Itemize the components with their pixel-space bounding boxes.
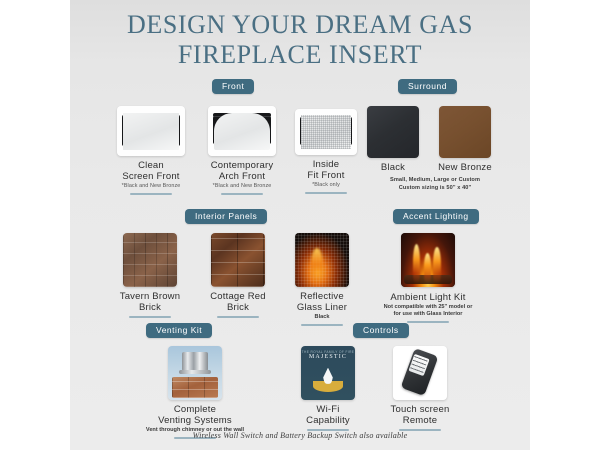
section-label-front[interactable]: Front [212, 79, 254, 94]
divider-rule [217, 316, 259, 318]
wifi-tile-brand: MAJESTIC [301, 354, 355, 360]
label-line-1: Ambient Light Kit [390, 292, 465, 303]
product-note: Black [282, 314, 362, 321]
product-label: Touch screen Remote [375, 404, 465, 426]
touch-screen-remote-image [393, 346, 447, 400]
label-line-1: Cottage Red [210, 291, 266, 302]
product-wifi-capability[interactable]: THE ROYAL FAMILY OF FIRE MAJESTIC Wi-Fi … [294, 346, 362, 431]
divider-rule [407, 321, 449, 323]
label-line-1: Wi-Fi [316, 404, 339, 415]
label-line-1: Inside [313, 159, 340, 170]
clean-screen-front-image [117, 106, 185, 156]
accent-note-line-2: for use with Glass Interior [393, 311, 462, 317]
product-note: *Black and New Bronze [199, 183, 285, 190]
product-label: Tavern Brown Brick [110, 291, 190, 313]
product-label: Cottage Red Brick [198, 291, 278, 313]
label-line-1: New Bronze [438, 162, 492, 173]
section-label-venting-kit[interactable]: Venting Kit [146, 323, 212, 338]
product-note: *Black and New Bronze [112, 183, 190, 190]
ambient-light-kit-caption: Ambient Light Kit Not compatible with 25… [370, 288, 486, 323]
ambient-light-kit-image [401, 233, 455, 287]
section-label-surround[interactable]: Surround [398, 79, 457, 94]
section-label-interior-panels[interactable]: Interior Panels [185, 209, 267, 224]
tavern-brown-brick-swatch [123, 233, 177, 287]
label-line-2: Brick [110, 302, 190, 313]
contemporary-arch-front-image [208, 106, 276, 156]
product-label: Ambient Light Kit [370, 292, 486, 303]
product-surround-black[interactable]: Black [364, 106, 422, 173]
cottage-red-brick-swatch [211, 233, 265, 287]
label-line-2: Venting Systems [135, 415, 255, 426]
surround-note-line-2: Custom sizing is 50" x 40" [399, 185, 472, 191]
product-surround-new-bronze[interactable]: New Bronze [430, 106, 500, 173]
product-label: Clean Screen Front [112, 160, 190, 182]
label-line-2: Fit Front [290, 170, 362, 181]
surround-note-line-1: Small, Medium, Large or Custom [390, 177, 480, 183]
product-cottage-red-brick[interactable]: Cottage Red Brick [198, 233, 278, 318]
label-line-1: Clean [138, 160, 164, 171]
footer-note: Wireless Wall Switch and Battery Backup … [70, 431, 530, 440]
label-line-2: Glass Liner [282, 302, 362, 313]
section-label-accent-lighting[interactable]: Accent Lighting [393, 209, 479, 224]
title-line-1: DESIGN YOUR DREAM GAS [127, 10, 473, 39]
product-clean-screen-front[interactable]: Clean Screen Front *Black and New Bronze [112, 106, 190, 195]
product-label: Black [364, 162, 422, 173]
accent-lighting-note: Not compatible with 25" model or for use… [370, 304, 486, 318]
title-line-2: FIREPLACE INSERT [70, 40, 530, 70]
product-complete-venting-systems[interactable]: Complete Venting Systems Vent through ch… [135, 346, 255, 439]
product-note: *Black only [290, 182, 362, 189]
product-contemporary-arch-front[interactable]: Contemporary Arch Front *Black and New B… [199, 106, 285, 195]
venting-system-image [168, 346, 222, 400]
divider-rule [129, 316, 171, 318]
label-line-1: Contemporary [211, 160, 274, 171]
surround-note: Small, Medium, Large or Custom Custom si… [360, 177, 510, 192]
product-reflective-glass-liner[interactable]: Reflective Glass Liner Black [282, 233, 362, 326]
label-line-1: Reflective [300, 291, 344, 302]
divider-rule [221, 193, 263, 195]
divider-rule [301, 324, 343, 326]
label-line-2: Remote [375, 415, 465, 426]
label-line-2: Brick [198, 302, 278, 313]
label-line-1: Tavern Brown [120, 291, 180, 302]
reflective-glass-liner-swatch [295, 233, 349, 287]
page-title: DESIGN YOUR DREAM GAS FIREPLACE INSERT [70, 10, 530, 70]
divider-rule [130, 193, 172, 195]
inside-fit-front-image [295, 109, 357, 155]
accent-note-line-1: Not compatible with 25" model or [384, 304, 473, 310]
label-line-1: Complete [174, 404, 216, 415]
label-line-1: Black [381, 162, 405, 173]
divider-rule [305, 192, 347, 194]
new-bronze-swatch [439, 106, 491, 158]
product-tavern-brown-brick[interactable]: Tavern Brown Brick [110, 233, 190, 318]
product-inside-fit-front[interactable]: Inside Fit Front *Black only [290, 106, 362, 194]
black-swatch [367, 106, 419, 158]
label-line-2: Arch Front [199, 171, 285, 182]
infographic-canvas: DESIGN YOUR DREAM GAS FIREPLACE INSERT F… [0, 0, 600, 450]
product-label: Complete Venting Systems [135, 404, 255, 426]
product-label: Contemporary Arch Front [199, 160, 285, 182]
label-line-2: Capability [294, 415, 362, 426]
section-label-controls[interactable]: Controls [353, 323, 409, 338]
wifi-app-image: THE ROYAL FAMILY OF FIRE MAJESTIC [301, 346, 355, 400]
product-label: Wi-Fi Capability [294, 404, 362, 426]
product-label: Inside Fit Front [290, 159, 362, 181]
label-line-2: Screen Front [112, 171, 190, 182]
label-line-1: Touch screen [391, 404, 450, 415]
product-label: New Bronze [430, 162, 500, 173]
product-ambient-light-kit[interactable] [398, 233, 458, 287]
product-label: Reflective Glass Liner [282, 291, 362, 313]
product-touch-screen-remote[interactable]: Touch screen Remote [375, 346, 465, 431]
